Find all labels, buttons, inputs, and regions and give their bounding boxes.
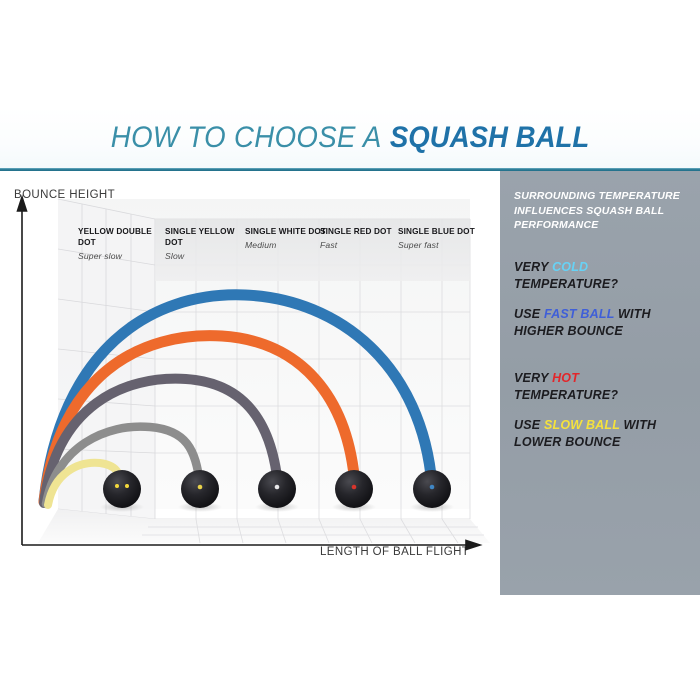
column-header-single-blue-dot: SINGLE BLUE DOT Super fast [398, 227, 484, 251]
column-title: YELLOW DOUBLE DOT [78, 227, 152, 247]
page-title-light: HOW TO CHOOSE A [111, 121, 382, 154]
column-speed: Super fast [398, 240, 484, 251]
ball-yellow-double-dot [103, 470, 141, 508]
column-title: SINGLE WHITE DOT [245, 227, 326, 236]
cold-answer-line1: USE FAST BALL WITH [514, 306, 686, 323]
page-title-bold: SQUASH BALL [390, 121, 589, 154]
cold-answer-suffix: WITH [614, 307, 650, 321]
cold-question: VERY COLD TEMPERATURE? [514, 259, 686, 293]
cold-answer-prefix: USE [514, 307, 544, 321]
column-header-yellow-double-dot: YELLOW DOUBLE DOT Super slow [78, 227, 164, 261]
cold-advice-block: VERY COLD TEMPERATURE? USE FAST BALL WIT… [514, 259, 686, 340]
hot-question-suffix: TEMPERATURE? [514, 388, 618, 402]
spacer [514, 404, 686, 417]
hot-advice-block: VERY HOT TEMPERATURE? USE SLOW BALL WITH… [514, 370, 686, 451]
hot-answer-line2: LOWER BOUNCE [514, 434, 686, 451]
hot-answer-line1: USE SLOW BALL WITH [514, 417, 686, 434]
column-title: SINGLE YELLOW DOT [165, 227, 235, 247]
cold-answer-line2: HIGHER BOUNCE [514, 323, 686, 340]
hot-answer-suffix: WITH [620, 418, 656, 432]
ball-single-blue-dot [413, 470, 451, 508]
cold-question-prefix: VERY [514, 260, 552, 274]
column-header-single-white-dot: SINGLE WHITE DOT Medium [245, 227, 331, 251]
ball-single-white-dot [258, 470, 296, 508]
page-title: HOW TO CHOOSE ASQUASH BALL [111, 121, 589, 155]
ball-single-red-dot [335, 470, 373, 508]
infographic-root: HOW TO CHOOSE ASQUASH BALL BOUNCE HEIGHT… [0, 0, 700, 700]
hot-answer-prefix: USE [514, 418, 544, 432]
column-speed: Super slow [78, 251, 164, 262]
hot-keyword: HOT [552, 371, 579, 385]
hot-question: VERY HOT TEMPERATURE? [514, 370, 686, 404]
column-title: SINGLE RED DOT [320, 227, 392, 236]
header-banner: HOW TO CHOOSE ASQUASH BALL [0, 108, 700, 168]
column-speed: Medium [245, 240, 331, 251]
cold-question-suffix: TEMPERATURE? [514, 277, 618, 291]
column-speed: Fast [320, 240, 406, 251]
bounce-chart: BOUNCE HEIGHT LENGTH OF BALL FLIGHT [0, 171, 500, 595]
slow-ball-keyword: SLOW BALL [544, 418, 620, 432]
temperature-advice-panel: SURROUNDING TEMPERATURE INFLUENCES SQUAS… [500, 171, 700, 595]
cold-keyword: COLD [552, 260, 588, 274]
column-header-single-yellow-dot: SINGLE YELLOW DOT Slow [165, 227, 251, 261]
chart-floor [38, 509, 490, 543]
column-speed: Slow [165, 251, 251, 262]
column-title: SINGLE BLUE DOT [398, 227, 475, 236]
fast-ball-keyword: FAST BALL [544, 307, 614, 321]
hot-question-prefix: VERY [514, 371, 552, 385]
panel-intro-text: SURROUNDING TEMPERATURE INFLUENCES SQUAS… [514, 189, 686, 233]
column-header-single-red-dot: SINGLE RED DOT Fast [320, 227, 406, 251]
ball-single-yellow-dot [181, 470, 219, 508]
spacer [514, 293, 686, 306]
